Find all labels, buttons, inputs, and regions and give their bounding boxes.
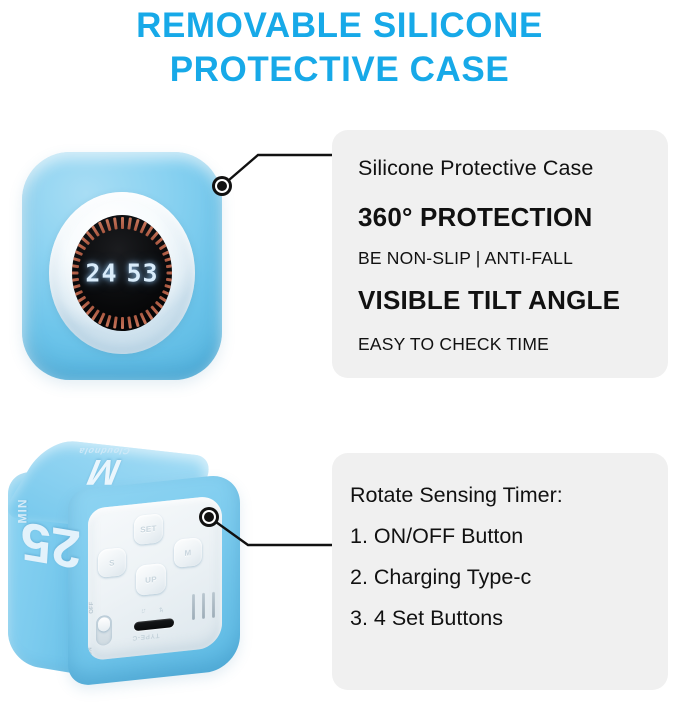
tick-mark [113,217,118,229]
led-minutes: 24 [85,259,117,288]
page-title-line-2: PROTECTIVE CASE [0,48,679,92]
power-switch-knob[interactable] [98,617,110,632]
info-panel-protection: Silicone Protective Case 360° PROTECTION… [332,130,668,378]
panel-bottom-heading: Rotate Sensing Timer: [350,483,563,508]
tick-mark [127,316,132,328]
tick-mark [97,221,105,233]
panel-top-subtitle: Silicone Protective Case [358,156,593,181]
tick-mark [133,219,139,231]
led-digits: 2453 [72,259,172,288]
s-button[interactable]: S [98,547,126,578]
info-panel-features: Rotate Sensing Timer: 1. ON/OFF Button 2… [332,453,668,690]
tick-mark [145,309,154,321]
led-seconds: 53 [127,259,159,288]
tick-mark [97,312,105,324]
tick-mark [72,248,83,256]
speaker-grille [192,591,218,620]
usb-type-c-port [134,618,174,631]
page-title-line-1: REMOVABLE SILICONE [0,4,679,48]
tick-mark [139,312,147,324]
power-switch[interactable] [96,615,112,647]
tick-mark [105,315,111,327]
product-image-rear-view: Cloudnola M MIN 25 SET S M UP OFF ON ↯ ♫… [4,444,249,686]
panel-top-detail-checktime: EASY TO CHECK TIME [358,334,549,355]
led-display-face: 2453 [72,215,172,331]
panel-bottom-item-2: 2. Charging Type-c [350,565,531,590]
grille-slot [212,592,215,618]
set-button[interactable]: SET [134,513,163,545]
infographic-canvas: REMOVABLE SILICONE PROTECTIVE CASE 2453 … [0,0,679,709]
timer-cube-3d: Cloudnola M MIN 25 SET S M UP OFF ON ↯ ♫… [4,444,249,686]
tick-mark [127,217,132,229]
panel-top-heading-tilt: VISIBLE TILT ANGLE [358,285,620,316]
port-indicator-icons: ↯ ♫ [136,605,164,616]
dial-bezel-ring: 2453 [49,192,195,354]
switch-off-label: OFF [89,601,95,614]
callout-leader-top [190,130,350,210]
grille-slot [192,594,195,620]
tick-mark [133,315,139,327]
tick-mark [161,248,172,256]
switch-on-label: ON [88,647,94,657]
panel-top-detail-nonslip: BE NON-SLIP | ANTI-FALL [358,248,573,269]
usb-type-c-label: TYPE-C [132,632,159,642]
tick-mark [113,316,118,328]
page-title: REMOVABLE SILICONE PROTECTIVE CASE [0,4,679,92]
tick-mark [121,317,124,329]
tick-mark [139,221,147,233]
tick-mark [90,309,99,321]
grille-slot [202,593,205,619]
left-face-number: 25 [10,511,92,579]
panel-bottom-item-1: 1. ON/OFF Button [350,524,523,549]
tick-mark [121,217,124,229]
up-button[interactable]: UP [136,563,166,596]
callout-leader-bottom [185,495,355,565]
tick-mark [105,219,111,231]
panel-bottom-item-3: 3. 4 Set Buttons [350,606,503,631]
panel-top-heading-protection: 360° PROTECTION [358,202,592,233]
